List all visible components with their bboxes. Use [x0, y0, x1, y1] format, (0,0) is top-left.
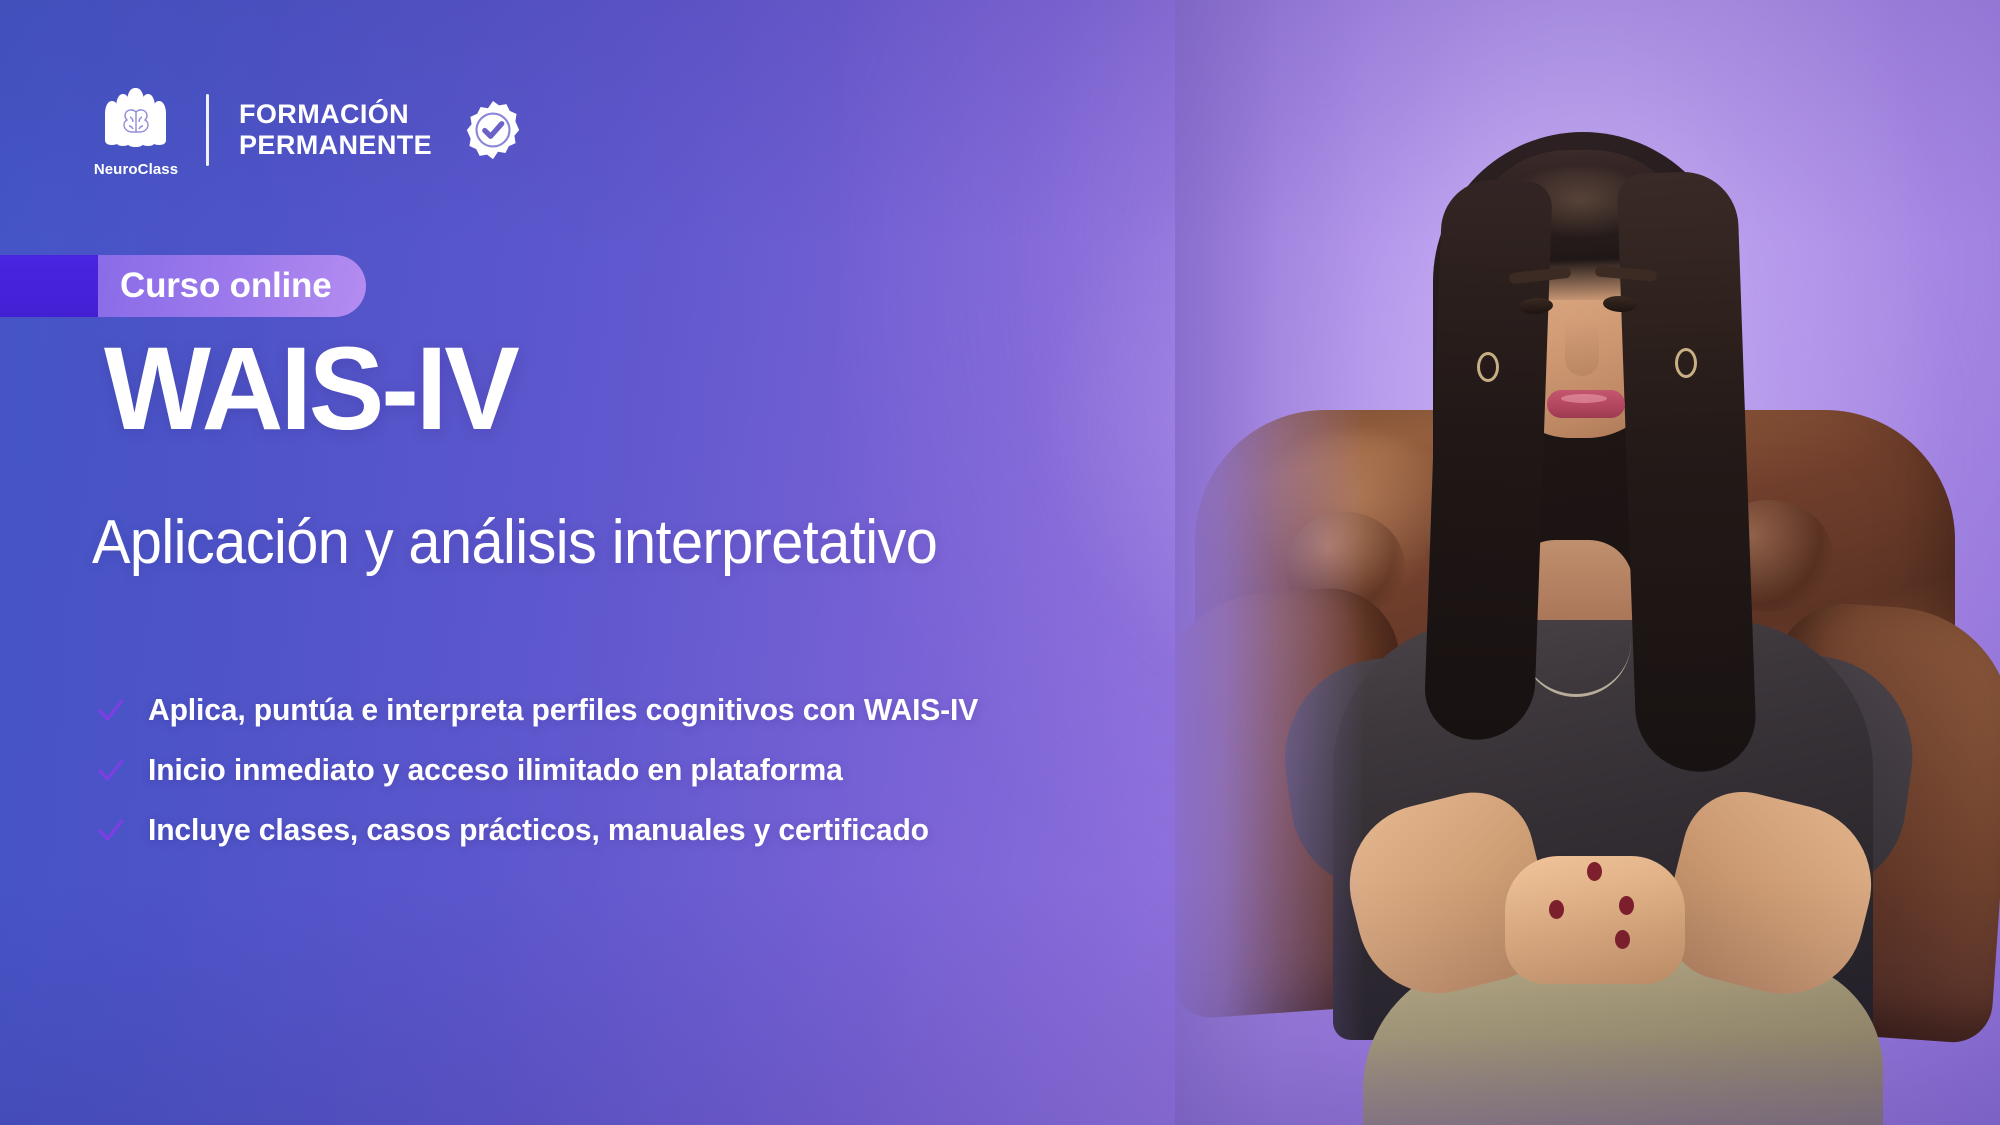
tagline-line-2: PERMANENTE [239, 130, 432, 161]
logo-wordmark: NeuroClass [92, 161, 180, 178]
list-item-label: Incluye clases, casos prácticos, manuale… [148, 812, 929, 848]
pill-label: Curso online [120, 266, 332, 306]
promo-banner: NeuroClass FORMACIÓN PERMANENTE Curso on… [0, 0, 2000, 1125]
brand-header: NeuroClass FORMACIÓN PERMANENTE [92, 84, 524, 176]
check-icon [96, 755, 126, 785]
list-item: Inicio inmediato y acceso ilimitado en p… [96, 752, 1004, 788]
check-icon [96, 815, 126, 845]
page-title: WAIS-IV [104, 330, 517, 448]
list-item: Aplica, puntúa e interpreta perfiles cog… [96, 692, 1004, 728]
verified-check-badge-icon [462, 99, 524, 161]
tagline-line-1: FORMACIÓN [239, 99, 432, 130]
check-icon [96, 695, 126, 725]
curso-online-pill: Curso online [98, 255, 366, 317]
list-item-label: Aplica, puntúa e interpreta perfiles cog… [148, 692, 978, 728]
list-item-label: Inicio inmediato y acceso ilimitado en p… [148, 752, 843, 788]
header-divider [206, 94, 209, 166]
formacion-permanente-label: FORMACIÓN PERMANENTE [239, 99, 432, 162]
pill-accent-block [0, 255, 98, 317]
page-subtitle: Aplicación y análisis interpretativo [92, 510, 937, 577]
feature-list: Aplica, puntúa e interpreta perfiles cog… [96, 692, 1004, 848]
book-brain-logo-icon: NeuroClass [92, 84, 180, 176]
list-item: Incluye clases, casos prácticos, manuale… [96, 812, 1004, 848]
